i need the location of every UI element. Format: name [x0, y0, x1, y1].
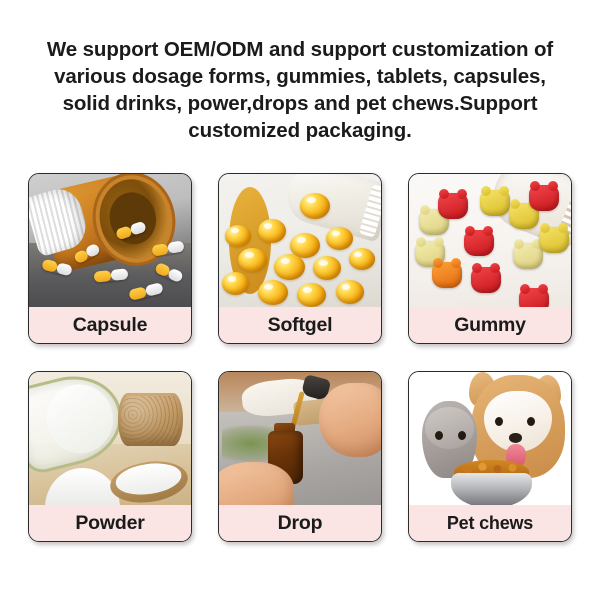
kitten-puppy-food-photo	[409, 372, 571, 505]
product-card-gummy[interactable]: Gummy	[408, 173, 572, 344]
gummy-bears-photo	[409, 174, 571, 307]
product-card-drop[interactable]: Drop	[218, 371, 382, 542]
product-forms-infographic: We support OEM/ODM and support customiza…	[0, 0, 600, 600]
card-row-2: Powder Drop	[28, 371, 573, 542]
page-heading: We support OEM/ODM and support customiza…	[26, 36, 574, 144]
product-card-capsule[interactable]: Capsule	[28, 173, 192, 344]
softgel-capsules-photo	[219, 174, 381, 307]
product-card-powder[interactable]: Powder	[28, 371, 192, 542]
capsule-bottle-photo	[29, 174, 191, 307]
card-label-capsule: Capsule	[29, 307, 191, 343]
product-card-pet-chews[interactable]: Pet chews	[408, 371, 572, 542]
product-card-grid: Capsule	[28, 173, 573, 542]
card-label-powder: Powder	[29, 505, 191, 541]
dropper-bottle-photo	[219, 372, 381, 505]
card-label-softgel: Softgel	[219, 307, 381, 343]
product-card-softgel[interactable]: Softgel	[218, 173, 382, 344]
card-label-gummy: Gummy	[409, 307, 571, 343]
powder-jar-photo	[29, 372, 191, 505]
card-label-drop: Drop	[219, 505, 381, 541]
card-row-1: Capsule	[28, 173, 573, 344]
card-label-pet-chews: Pet chews	[409, 505, 571, 541]
